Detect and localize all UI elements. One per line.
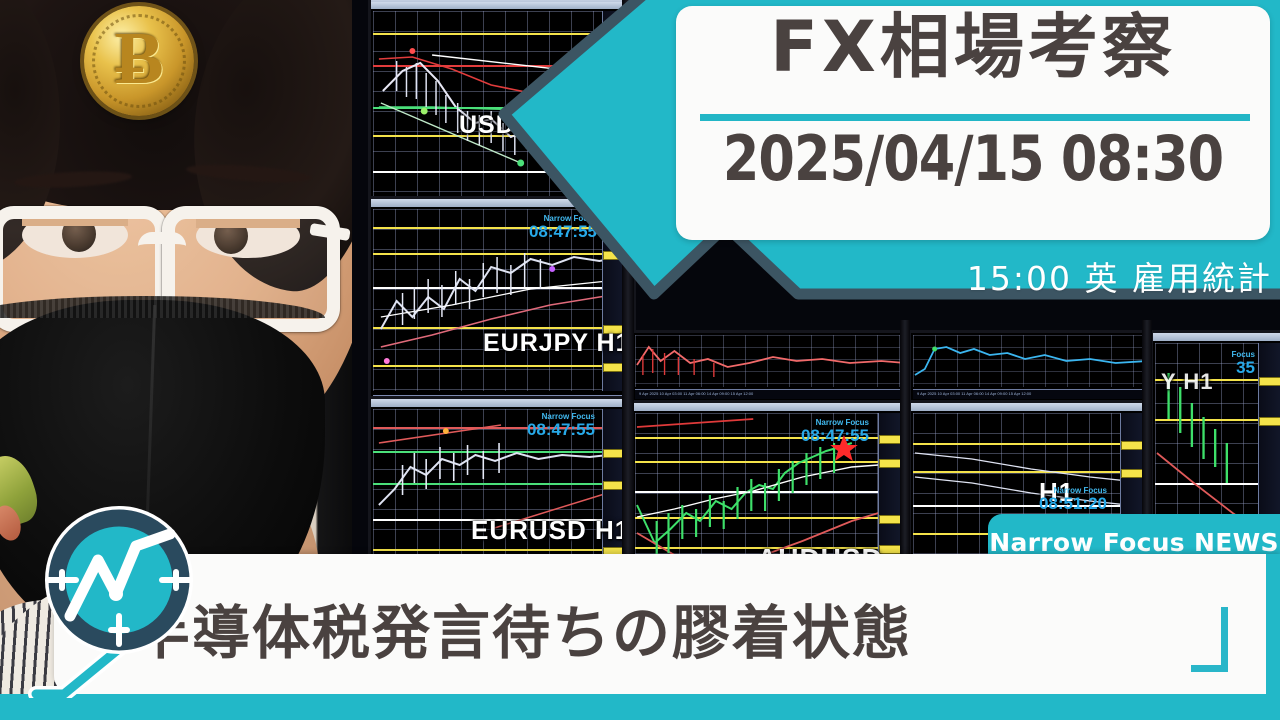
indicator-pane-red <box>635 335 907 387</box>
monitor-4: 9 Apr 2025 10 Apr 03:00 11 Apr 06:00 14 … <box>630 330 912 408</box>
economic-event: 15:00 英 雇用統計 <box>498 252 1272 300</box>
timestamp-stamp-eurusd: Narrow Focus 08:47:55 <box>527 413 595 438</box>
stamp-time: 35 <box>1231 359 1255 376</box>
closing-bracket-icon <box>1191 607 1228 672</box>
time-axis-label: 9 Apr 2025 10 Apr 03:00 11 Apr 06:00 14 … <box>917 391 1031 396</box>
bitcoin-coin: Ƀ <box>84 6 194 116</box>
time-axis-red: 9 Apr 2025 10 Apr 03:00 11 Apr 06:00 14 … <box>635 389 907 399</box>
stamp-time: 08:47:55 <box>801 427 869 444</box>
title-card: FX相場考察 2025/04/15 08:30 <box>676 6 1270 240</box>
title-divider <box>700 114 1250 121</box>
mt-toolbar-7 <box>1153 333 1280 341</box>
headline-text: 半導体税発言待ちの膠着状態 <box>132 604 1196 662</box>
footer-banner: Narrow Focus NEWS 半導体税発言待ちの膠着状態 <box>0 484 1280 720</box>
indicator-pane-blue <box>913 335 1149 387</box>
mt-toolbar-4 <box>371 399 633 407</box>
magnifier-chart-icon <box>24 498 214 698</box>
brand-name: Narrow Focus NEWS <box>989 528 1279 557</box>
time-axis-blue: 9 Apr 2025 10 Apr 03:00 11 Apr 06:00 14 … <box>913 389 1149 399</box>
time-axis-label: 9 Apr 2025 10 Apr 03:00 11 Apr 06:00 14 … <box>639 391 753 396</box>
mt-toolbar-6 <box>911 403 1151 411</box>
timestamp-stamp-audusd: Narrow Focus 08:47:55 <box>801 419 869 444</box>
narrow-focus-logo <box>24 498 214 698</box>
page-title: FX相場考察 <box>676 12 1270 82</box>
header-banner: FX相場考察 2025/04/15 08:30 15:00 英 雇用統計 <box>498 0 1280 334</box>
glasses-bridge <box>138 232 186 260</box>
headline-right-edge <box>1266 554 1280 694</box>
bitcoin-symbol: Ƀ <box>114 22 163 96</box>
thumbnail-canvas: 9 Apr 2025 10 Apr 03:00 11 Apr 06:00 14 … <box>0 0 1280 720</box>
pair-label-far: Y H1 <box>1161 369 1214 395</box>
stamp-time: 08:47:55 <box>527 421 595 438</box>
broadcast-datetime: 2025/04/15 08:30 <box>694 128 1252 190</box>
timestamp-stamp-far: Focus 35 <box>1231 351 1255 376</box>
mt-toolbar-5 <box>633 403 909 411</box>
monitor-6: 9 Apr 2025 10 Apr 03:00 11 Apr 06:00 14 … <box>908 330 1154 408</box>
